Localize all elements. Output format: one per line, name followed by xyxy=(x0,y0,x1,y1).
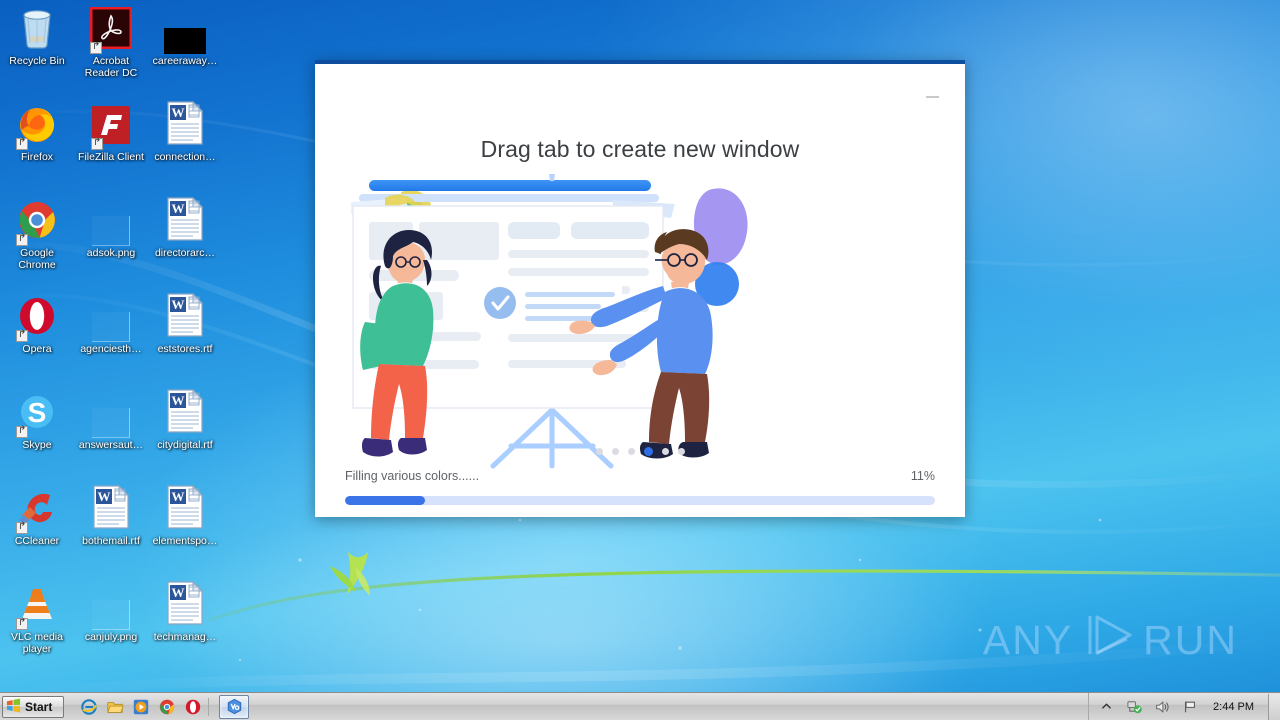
taskbar-separator xyxy=(208,698,209,716)
minimize-icon xyxy=(926,96,939,98)
png-icon xyxy=(74,392,148,438)
desktop-icon-rtf[interactable]: W elementspo… xyxy=(148,488,222,548)
desktop-icon-label: CCleaner xyxy=(0,536,74,548)
desktop-icon-label: careeraway… xyxy=(148,56,222,68)
skype-icon: S xyxy=(0,392,74,438)
windows-logo-icon xyxy=(6,698,21,716)
desktop-icon-label: adsok.png xyxy=(74,248,148,260)
progress-bar xyxy=(345,496,935,505)
progress-bar-fill xyxy=(345,496,425,505)
file-explorer-icon[interactable] xyxy=(104,696,126,718)
chrome-icon[interactable] xyxy=(156,696,178,718)
desktop-icon-label: techmanag… xyxy=(148,632,222,644)
progress-percent: 11% xyxy=(911,469,935,483)
network-icon[interactable] xyxy=(1123,696,1145,718)
desktop-icon-label: Google Chrome xyxy=(0,248,74,271)
desktop-icon-label: connection… xyxy=(148,152,222,164)
desktop-icon-ccleaner[interactable]: CCleaner xyxy=(0,488,74,548)
watermark-text-any: ANY xyxy=(983,617,1073,664)
show-hidden-icons-icon[interactable] xyxy=(1095,696,1117,718)
pagination-dots[interactable] xyxy=(315,448,965,455)
ccleaner-icon xyxy=(0,488,74,534)
shortcut-overlay-icon xyxy=(16,522,28,534)
desktop-icon-label: citydigital.rtf xyxy=(148,440,222,452)
rtf-icon: W xyxy=(148,392,222,438)
start-button[interactable]: Start xyxy=(2,696,64,718)
desktop-icon-rtf[interactable]: W eststores.rtf xyxy=(148,296,222,356)
anyrun-watermark: ANY RUN xyxy=(983,612,1238,668)
desktop-icon-chrome[interactable]: Google Chrome xyxy=(0,200,74,271)
desktop-icon-rtf[interactable]: W techmanag… xyxy=(148,584,222,644)
desktop-icon-label: eststores.rtf xyxy=(148,344,222,356)
pagination-dot[interactable] xyxy=(596,448,603,455)
pagination-dot-active[interactable] xyxy=(644,447,653,456)
chrome-icon xyxy=(0,200,74,246)
desktop-icon-png[interactable]: canjuly.png xyxy=(74,584,148,644)
rtf-icon: W xyxy=(148,104,222,150)
desktop-icon-label: VLC media player xyxy=(0,632,74,655)
taskbar-button-list xyxy=(219,695,249,719)
volume-icon[interactable] xyxy=(1151,696,1173,718)
shortcut-overlay-icon xyxy=(16,618,28,630)
desktop-icon-label: Acrobat Reader DC xyxy=(74,56,148,79)
png-icon xyxy=(74,200,148,246)
svg-text:S: S xyxy=(28,397,47,428)
action-center-icon[interactable] xyxy=(1179,696,1201,718)
rtf-icon: W xyxy=(74,488,148,534)
tray-clock[interactable]: 2:44 PM xyxy=(1207,701,1260,713)
desktop-icon-rtf[interactable]: W citydigital.rtf xyxy=(148,392,222,452)
rtf-icon: W xyxy=(148,584,222,630)
shortcut-overlay-icon xyxy=(16,426,28,438)
desktop-icon-grid: Recycle Bin Acrobat Reader DCcareeraway…… xyxy=(0,0,230,690)
firefox-icon xyxy=(0,104,74,150)
desktop-icon-rtf[interactable]: W directorarc… xyxy=(148,200,222,260)
desktop-icon-filezilla[interactable]: FileZilla Client xyxy=(74,104,148,164)
desktop-icon-label: FileZilla Client xyxy=(74,152,148,164)
shortcut-overlay-icon xyxy=(16,234,28,246)
desktop-icon-label: agenciesth… xyxy=(74,344,148,356)
opera-icon[interactable] xyxy=(182,696,204,718)
desktop-icon-label: directorarc… xyxy=(148,248,222,260)
pagination-dot[interactable] xyxy=(612,448,619,455)
png-icon xyxy=(74,296,148,342)
shortcut-overlay-icon xyxy=(16,330,28,342)
desktop-icon-skype[interactable]: S Skype xyxy=(0,392,74,452)
svg-text:W: W xyxy=(172,393,185,408)
desktop-icon-label: elementspo… xyxy=(148,536,222,548)
shortcut-overlay-icon xyxy=(90,42,102,54)
desktop-icon-opera[interactable]: Opera xyxy=(0,296,74,356)
svg-text:W: W xyxy=(98,489,111,504)
system-tray: 2:44 PM xyxy=(1088,693,1280,720)
png-dark-icon xyxy=(148,8,222,54)
page-title: Drag tab to create new window xyxy=(315,136,965,163)
pagination-dot[interactable] xyxy=(628,448,635,455)
shortcut-overlay-icon xyxy=(91,138,103,150)
desktop-icon-png[interactable]: adsok.png xyxy=(74,200,148,260)
start-button-label: Start xyxy=(25,700,52,714)
desktop-icon-label: answersaut… xyxy=(74,440,148,452)
rtf-icon: W xyxy=(148,488,222,534)
vlc-icon xyxy=(0,584,74,630)
pagination-dot[interactable] xyxy=(662,448,669,455)
opera-icon xyxy=(0,296,74,342)
desktop-icon-png[interactable]: answersaut… xyxy=(74,392,148,452)
status-text: Filling various colors...... xyxy=(345,469,479,483)
status-row: Filling various colors...... 11% xyxy=(345,469,935,483)
rtf-icon: W xyxy=(148,200,222,246)
filezilla-icon xyxy=(74,104,148,150)
desktop-icon-label: bothemail.rtf xyxy=(74,536,148,548)
desktop-icon-firefox[interactable]: Firefox xyxy=(0,104,74,164)
rtf-icon: W xyxy=(148,296,222,342)
svg-text:W: W xyxy=(172,201,185,216)
svg-text:W: W xyxy=(172,489,185,504)
desktop-icon-acrobat[interactable]: Acrobat Reader DC xyxy=(74,8,148,79)
desktop-icon-label: Recycle Bin xyxy=(0,56,74,68)
desktop-icon-png-dark[interactable]: careeraway… xyxy=(148,8,222,68)
svg-text:W: W xyxy=(172,297,185,312)
desktop-icon-rtf[interactable]: W bothemail.rtf xyxy=(74,488,148,548)
desktop-icon-recycle-bin[interactable]: Recycle Bin xyxy=(0,8,74,68)
svg-text:W: W xyxy=(172,105,185,120)
desktop-icon-rtf[interactable]: W connection… xyxy=(148,104,222,164)
quick-launch-bar xyxy=(78,696,204,718)
png-icon xyxy=(74,584,148,630)
media-player-icon[interactable] xyxy=(130,696,152,718)
taskbar-button-installer[interactable] xyxy=(219,695,249,719)
desktop-icon-label: canjuly.png xyxy=(74,632,148,644)
desktop-icon-label: Firefox xyxy=(0,152,74,164)
presentation-board-illustration xyxy=(335,174,945,474)
acrobat-icon xyxy=(74,8,148,54)
recycle-bin-icon xyxy=(0,8,74,54)
watermark-text-run: RUN xyxy=(1143,617,1238,664)
pagination-dot[interactable] xyxy=(678,448,685,455)
desktop-icon-label: Opera xyxy=(0,344,74,356)
shortcut-overlay-icon xyxy=(16,138,28,150)
desktop-icon-png[interactable]: agenciesth… xyxy=(74,296,148,356)
taskbar: Start xyxy=(0,692,1280,720)
anyrun-play-logo-icon xyxy=(1080,612,1136,668)
show-desktop-button[interactable] xyxy=(1268,694,1280,720)
desktop-icon-vlc[interactable]: VLC media player xyxy=(0,584,74,655)
desktop-icon-label: Skype xyxy=(0,440,74,452)
minimize-button[interactable] xyxy=(921,88,943,106)
svg-text:W: W xyxy=(172,585,185,600)
internet-explorer-icon[interactable] xyxy=(78,696,100,718)
installer-window[interactable]: Drag tab to create new window xyxy=(315,60,965,517)
